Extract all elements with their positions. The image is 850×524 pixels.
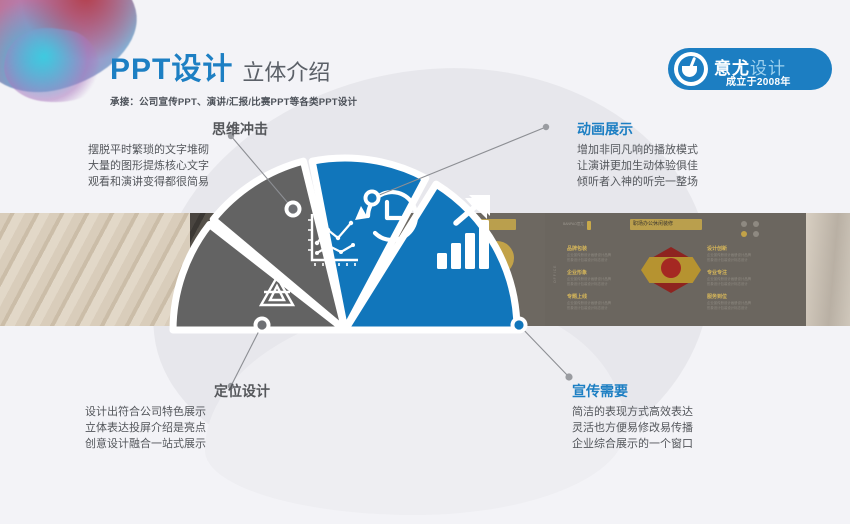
callout-bottom-right-line-2: 灵活也方便易修改易传播 (572, 420, 772, 436)
callout-top-left-line-2: 大量的图形提炼核心文字 (88, 158, 268, 174)
callout-top-right-line-2: 让演讲更加生动体验俱佳 (577, 158, 777, 174)
callout-top-right-line-3: 倾听者入神的听完一整场 (577, 174, 777, 190)
slide-right-item-5-body: 企业宣传册设计画册设计品牌形象设计包装设计标志设计 (707, 277, 751, 287)
title-main: PPT设计 (110, 44, 233, 88)
slide-right-item-3: 专题上线 (567, 294, 587, 300)
page-title: PPT设计立体介绍 承接：公司宣传PPT、演讲/汇报/比赛PPT等各类PPT设计 (110, 44, 357, 108)
slide-right-dot-1 (741, 221, 747, 227)
slide-right-logo-text: BANPAO意尤 (563, 222, 584, 227)
callout-top-left-heading: 思维冲击 (88, 120, 268, 138)
slide-right-item-6-body: 企业宣传册设计画册设计品牌形象设计包装设计标志设计 (707, 301, 751, 311)
callout-top-left: 思维冲击 摆脱平时繁琐的文字堆砌 大量的图形提炼核心文字 观看和演讲变得都很简易 (88, 120, 268, 190)
callout-top-left-line-3: 观看和演讲变得都很简易 (88, 174, 268, 190)
callout-bottom-right-line-1: 简洁的表现方式高效表达 (572, 404, 772, 420)
slide-right-item-4: 设计创新 (707, 246, 727, 252)
brand-logo[interactable]: 意尤设计 成立于2008年 (668, 48, 832, 90)
slide-right-item-2: 企业形象 (567, 270, 587, 276)
callout-bottom-left-line-1: 设计出符合公司特色展示 (85, 404, 270, 420)
pen-circle-icon (674, 52, 708, 86)
callout-top-left-line-1: 摆脱平时繁琐的文字堆砌 (88, 142, 268, 158)
wood-texture-light (0, 213, 190, 326)
callout-bottom-left-line-3: 创意设计融合一站式展示 (85, 436, 270, 452)
title-tagline: 承接：公司宣传PPT、演讲/汇报/比赛PPT等各类PPT设计 (110, 94, 357, 108)
slide-right-item-1: 品牌包装 (567, 246, 587, 252)
slide-right-item-6: 服务到位 (707, 294, 727, 300)
callout-top-right: 动画展示 增加非同凡响的播放模式 让演讲更加生动体验俱佳 倾听者入神的听完一整场 (577, 120, 777, 190)
slide-right-item-4-body: 企业宣传册设计画册设计品牌形象设计包装设计标志设计 (707, 253, 751, 263)
slide-right-dot-2 (753, 221, 759, 227)
slide-right-vertical: OFFICE (553, 265, 558, 283)
slide-right-dot-4 (753, 231, 759, 237)
callout-top-right-heading: 动画展示 (577, 120, 777, 138)
slide-right-item-2-body: 企业宣传册设计画册设计品牌形象设计包装设计标志设计 (567, 277, 611, 287)
callout-top-right-line-1: 增加非同凡响的播放模式 (577, 142, 777, 158)
title-sub: 立体介绍 (242, 55, 330, 88)
slide-right-hex-core (661, 258, 681, 278)
callout-bottom-left-line-2: 立体表达投屏介绍是亮点 (85, 420, 270, 436)
slide-preview-right: 职场办公休闲装修 BANPAO意尤 品牌包装 企业宣传册设计画册设计品牌形象设计… (545, 213, 820, 326)
callout-bottom-right-line-3: 企业综合展示的一个窗口 (572, 436, 772, 452)
slide-right-badge-text: 职场办公休闲装修 (633, 221, 673, 227)
slide-right-item-1-body: 企业宣传册设计画册设计品牌形象设计包装设计标志设计 (567, 253, 611, 263)
slide-right-logo-mark (587, 221, 591, 230)
slide-right-item-5: 专业专注 (707, 270, 727, 276)
callout-bottom-left: 定位设计 设计出符合公司特色展示 立体表达投屏介绍是亮点 创意设计融合一站式展示 (85, 382, 270, 452)
slide-right-item-3-body: 企业宣传册设计画册设计品牌形象设计包装设计标志设计 (567, 301, 611, 311)
callout-bottom-right: 宣传需要 简洁的表现方式高效表达 灵活也方便易修改易传播 企业综合展示的一个窗口 (572, 382, 772, 452)
wall-texture (806, 213, 850, 326)
callout-bottom-left-heading: 定位设计 (85, 382, 270, 400)
callout-bottom-right-heading: 宣传需要 (572, 382, 772, 400)
slide-right-dot-3 (741, 231, 747, 237)
slide-canvas: 职场办公休闲装修 BANPAO意尤 头层牛皮 03 企业宣传册设计画册设计品牌形… (0, 0, 850, 524)
logo-established: 成立于2008年 (726, 73, 791, 88)
